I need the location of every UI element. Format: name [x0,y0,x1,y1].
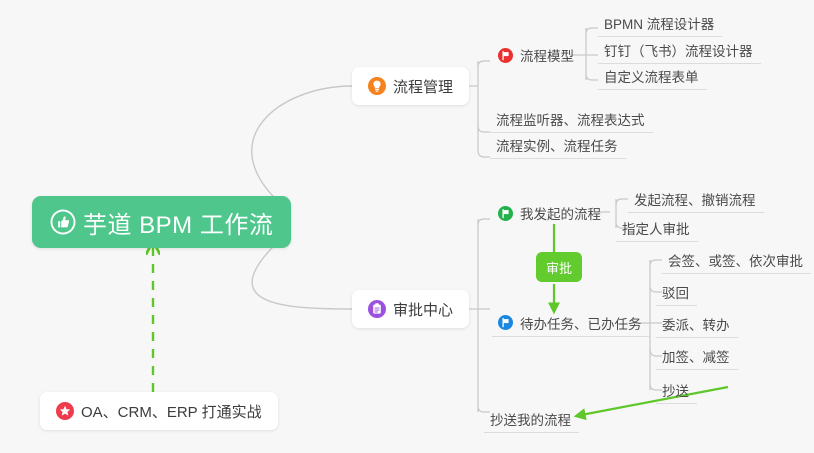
node-process-listener-expression-label: 流程监听器、流程表达式 [496,109,645,129]
node-add-remove-sign-label: 加签、减签 [662,346,730,366]
node-process-instance-task-label: 流程实例、流程任务 [496,135,618,155]
node-designated-approver[interactable]: 指定人审批 [616,214,698,242]
node-countersign-orsign-sequential[interactable]: 会签、或签、依次审批 [662,246,811,274]
node-dingtalk-feishu-designer[interactable]: 钉钉（飞书）流程设计器 [598,36,761,64]
lightbulb-icon [368,77,386,95]
node-reject[interactable]: 驳回 [656,278,697,306]
node-bpmn-designer[interactable]: BPMN 流程设计器 [598,9,722,37]
node-process-model[interactable]: 流程模型 [492,41,582,69]
clipboard-icon [368,300,386,318]
node-bpmn-designer-label: BPMN 流程设计器 [604,13,714,33]
node-reject-label: 驳回 [662,282,689,302]
blue-flag-icon [498,315,513,330]
node-start-cancel-process-label: 发起流程、撤销流程 [634,189,756,209]
node-custom-process-form[interactable]: 自定义流程表单 [598,62,707,90]
wire-pm-child-instance [478,150,490,157]
arrow-cc-to-ccmine [576,387,728,416]
wire-root-to-process-management [252,86,352,205]
green-flag-icon [498,206,513,221]
node-integration-practice[interactable]: OA、CRM、ERP 打通实战 [40,392,278,430]
node-cc-to-me-processes[interactable]: 抄送我的流程 [484,405,579,433]
node-dingtalk-feishu-designer-label: 钉钉（飞书）流程设计器 [604,40,753,60]
branch-process-management[interactable]: 流程管理 [352,67,469,105]
node-cc-to-me-processes-label: 抄送我的流程 [490,409,571,429]
node-designated-approver-label: 指定人审批 [622,218,690,238]
node-delegate-transfer[interactable]: 委派、转办 [656,310,738,338]
mindmap-canvas: 芋道 BPM 工作流 流程管理 流程模型 BPMN 流程设计器 钉钉（飞书 [0,0,814,453]
node-process-listener-expression[interactable]: 流程监听器、流程表达式 [490,105,653,133]
root-label: 芋道 BPM 工作流 [83,205,273,240]
wire-model-child-bpmn [586,28,598,34]
red-flag-icon [498,48,513,63]
node-add-remove-sign[interactable]: 加签、减签 [656,342,738,370]
node-start-cancel-process[interactable]: 发起流程、撤销流程 [628,185,764,213]
wire-ac-child-initiated [478,219,490,225]
node-integration-practice-label: OA、CRM、ERP 打通实战 [81,401,262,422]
node-carbon-copy[interactable]: 抄送 [656,376,697,404]
wire-model-child-custom [586,74,598,80]
wire-root-to-approval-center [252,238,352,309]
node-custom-process-form-label: 自定义流程表单 [604,66,699,86]
node-todo-done-tasks[interactable]: 待办任务、已办任务 [492,309,650,337]
node-delegate-transfer-label: 委派、转办 [662,314,730,334]
wire-pm-child-listener [478,126,490,132]
node-countersign-orsign-sequential-label: 会签、或签、依次审批 [668,250,803,270]
root-node[interactable]: 芋道 BPM 工作流 [32,196,291,248]
branch-approval-center[interactable]: 审批中心 [352,290,469,328]
wire-pm-child-model [478,61,490,67]
wire-todo-child-countersign [650,260,662,266]
node-process-instance-task[interactable]: 流程实例、流程任务 [490,131,626,159]
star-icon [56,402,74,420]
node-todo-done-tasks-label: 待办任务、已办任务 [520,313,642,333]
node-my-initiated-processes-label: 我发起的流程 [520,203,601,223]
branch-approval-center-label: 审批中心 [393,299,453,320]
thumbs-up-icon [50,209,76,235]
callout-approval-label: 审批 [546,258,572,277]
node-carbon-copy-label: 抄送 [662,380,689,400]
wire-initiated-child-start [616,199,628,205]
branch-process-management-label: 流程管理 [393,76,453,97]
node-process-model-label: 流程模型 [520,45,574,65]
callout-approval[interactable]: 审批 [536,252,582,282]
node-my-initiated-processes[interactable]: 我发起的流程 [492,199,609,227]
